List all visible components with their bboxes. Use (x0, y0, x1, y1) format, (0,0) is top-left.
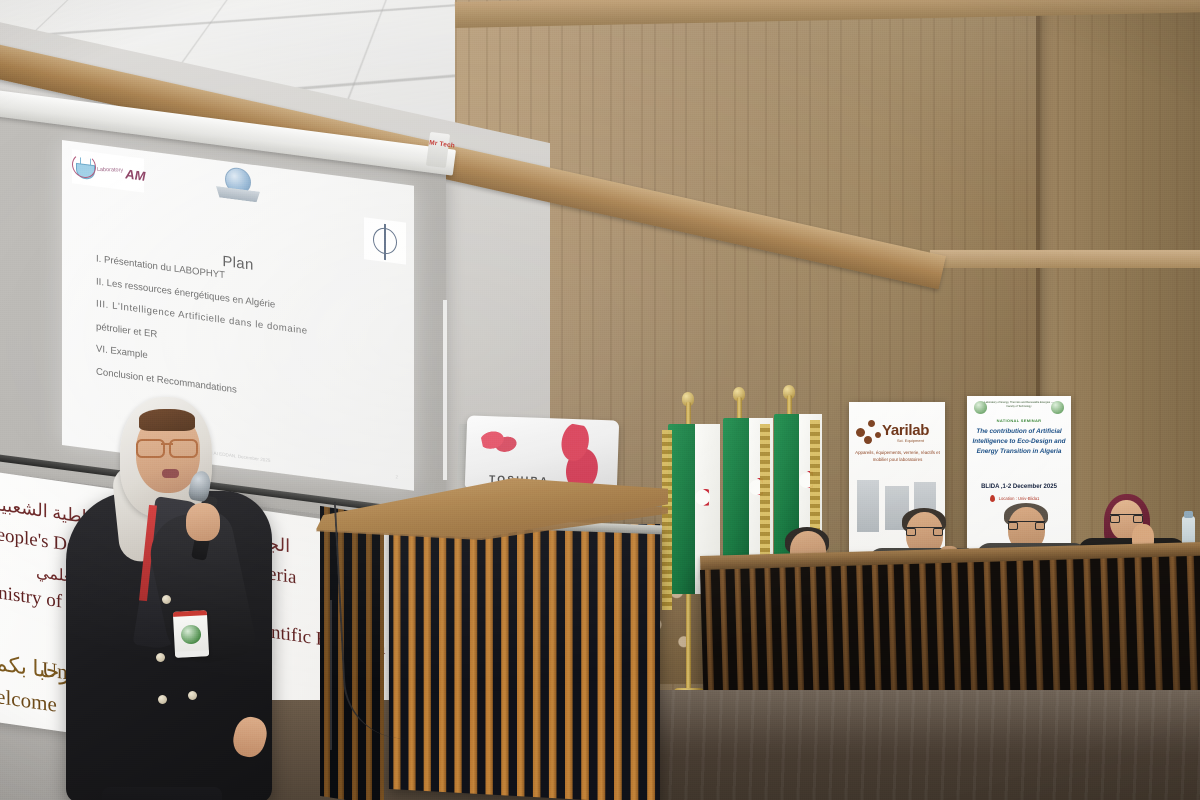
wood-ceiling-junction (930, 250, 1200, 268)
screen-side-strip (443, 300, 447, 480)
glasses-icon (136, 439, 198, 454)
glasses-icon (1008, 521, 1045, 526)
emblem-icon (373, 226, 397, 255)
molecule-icon (856, 420, 882, 446)
speaker-badge (173, 610, 209, 658)
glasses-bridge (161, 443, 173, 445)
labophyt-laboratory-logo: Laboratory AM (72, 149, 144, 192)
blazer-button (188, 691, 197, 700)
flag-green-field (668, 424, 695, 594)
badge-header (173, 610, 207, 617)
water-bottle-cap (1184, 511, 1193, 518)
blazer-button (156, 653, 165, 662)
poster-title: The contribution of Artificial Intellige… (972, 427, 1066, 457)
presenting-speaker (38, 395, 308, 800)
slide-page-number: 2 (395, 474, 398, 479)
microphone-cable (330, 600, 354, 750)
yarilab-subtitle: Sci. Equipment (897, 438, 924, 443)
speaker-mouth (162, 469, 179, 478)
yarilab-brand-name: Yarilab (882, 422, 929, 439)
university-emblem-logo (364, 217, 406, 264)
flag-green-field (723, 418, 749, 576)
speaker-hand (186, 503, 220, 541)
butterfly-decal-icon (547, 421, 609, 491)
poster-location: Location : Univ-Blida1 (967, 496, 1071, 501)
speaker-trousers (102, 787, 222, 800)
lectern-body (389, 524, 660, 800)
conference-globe-logo (216, 165, 260, 211)
poster-organisers: Laboratory of Energy, Thermics and Renew… (983, 401, 1055, 408)
badge-logo-icon (181, 624, 202, 644)
blazer-button (158, 695, 167, 704)
yarilab-tagline: Appareils, équipements, verrerie, réacti… (855, 450, 940, 463)
logo-monogram: AM (125, 167, 145, 183)
speaker-hair (139, 409, 195, 431)
flag-gold-fringe (662, 430, 672, 610)
butterfly-decal-icon (480, 426, 519, 459)
logo-word-laboratory: Laboratory (97, 168, 124, 174)
glasses-icon (1110, 514, 1143, 519)
conference-photo-scene: Mr Tech Laboratory AM Plan I. Présentati… (0, 0, 1200, 800)
poster-event-type: NATIONAL SEMINAR (967, 418, 1071, 423)
blazer-button (162, 595, 171, 604)
poster-date: BLIDA ,1-2 December 2025 (967, 484, 1071, 490)
glasses-icon (906, 527, 943, 532)
